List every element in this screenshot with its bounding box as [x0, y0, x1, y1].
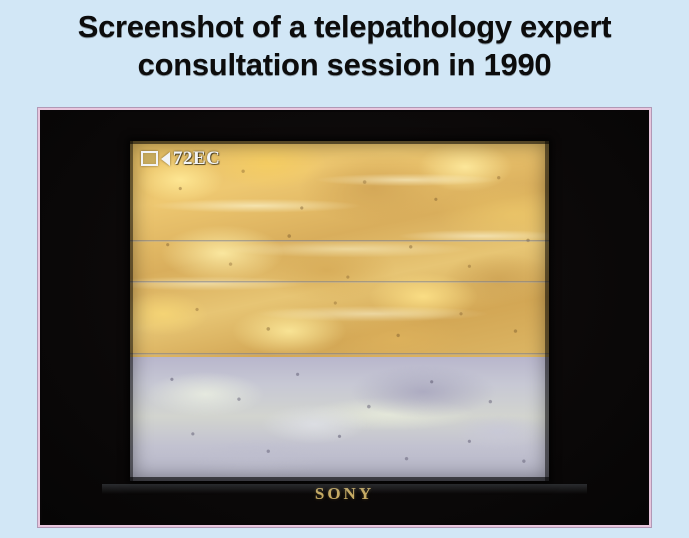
screen-edge — [545, 141, 549, 481]
bezel-reflection — [102, 484, 587, 494]
video-scanline — [130, 281, 549, 282]
monitor-body: 72EC SONY — [42, 112, 647, 523]
histology-lower-nuclei — [130, 357, 549, 481]
title-line-2: consultation session in 1990 — [0, 46, 689, 84]
slide-canvas: Screenshot of a telepathology expert con… — [0, 0, 689, 538]
on-screen-display: 72EC — [141, 149, 220, 168]
osd-channel-label: 72EC — [173, 149, 220, 168]
title-line-1: Screenshot of a telepathology expert — [0, 8, 689, 46]
histology-upper-nuclei — [130, 141, 549, 357]
video-scanline — [130, 240, 549, 241]
screen-edge — [130, 141, 549, 144]
screen-edge — [130, 141, 133, 481]
video-scanline — [130, 353, 549, 354]
monitor-screen: 72EC — [130, 141, 549, 481]
screen-edge — [130, 477, 549, 481]
page-title: Screenshot of a telepathology expert con… — [0, 8, 689, 84]
crt-monitor: 72EC SONY — [38, 108, 651, 527]
speaker-icon — [161, 152, 170, 166]
square-outline-icon — [141, 151, 158, 166]
